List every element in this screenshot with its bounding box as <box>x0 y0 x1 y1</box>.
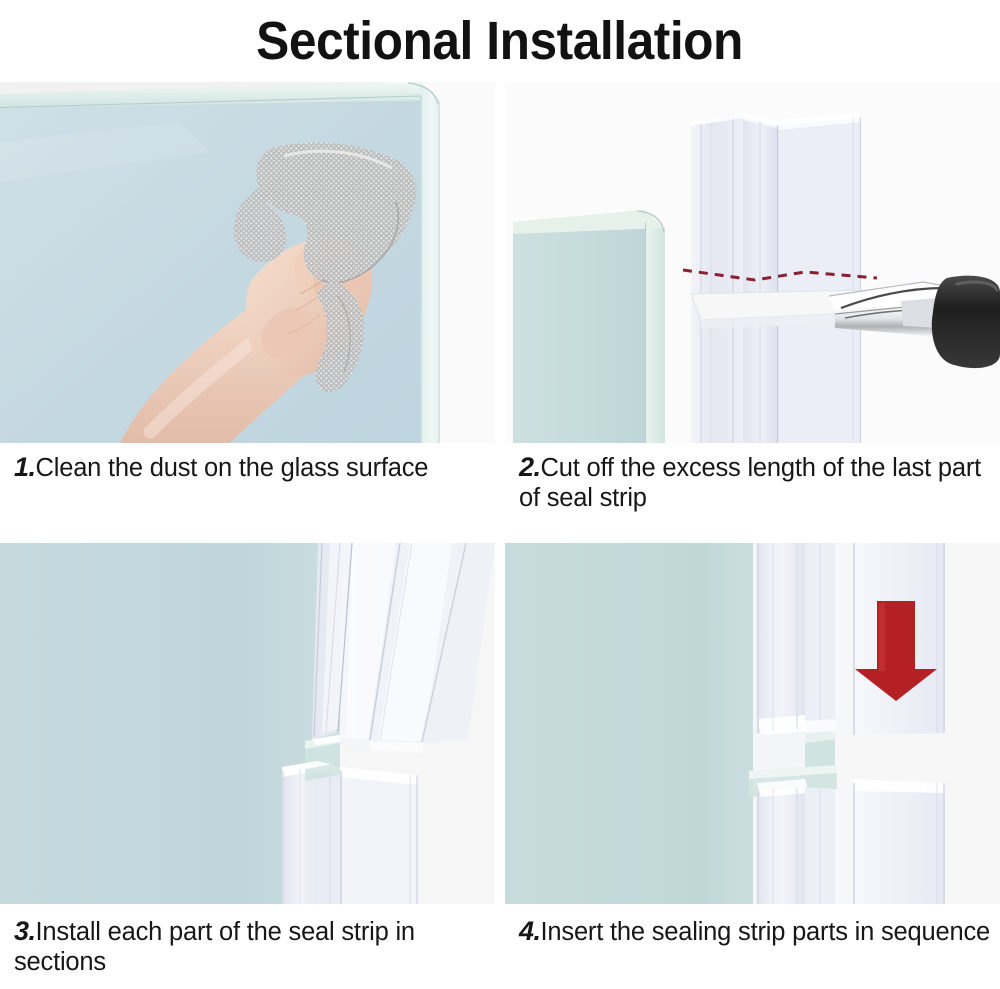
figure-seal-strip-insert-sequence <box>505 543 1000 904</box>
page-title: Sectional Installation <box>257 12 744 70</box>
figure-seal-strip-install-in-sections <box>0 543 495 904</box>
step-text-3: Install each part of the seal strip in s… <box>14 918 415 976</box>
step-card-2: 2.Cut off the excess length of the last … <box>505 82 1000 513</box>
step-caption-3: 3.Install each part of the seal strip in… <box>0 904 495 977</box>
step-caption-4: 4.Insert the sealing strip parts in sequ… <box>505 904 1000 947</box>
step-caption-2: 2.Cut off the excess length of the last … <box>505 443 1000 513</box>
step-text-2: Cut off the excess length of the last pa… <box>519 454 981 512</box>
step-number-4: 4. <box>519 916 541 946</box>
step-card-3: 3.Install each part of the seal strip in… <box>0 543 495 977</box>
figure-seal-strip-cut-with-scissors <box>505 82 1000 443</box>
step-card-1: 1.Clean the dust on the glass surface <box>0 82 495 483</box>
step-caption-1: 1.Clean the dust on the glass surface <box>0 443 495 483</box>
step-number-1: 1. <box>14 452 36 482</box>
step-text-1: Clean the dust on the glass surface <box>36 454 429 482</box>
title-bar: Sectional Installation <box>0 0 1000 82</box>
step-number-2: 2. <box>519 452 541 482</box>
step-number-3: 3. <box>14 916 36 946</box>
figure-glass-cleaning-hand-cloth <box>0 82 495 443</box>
steps-grid: 1.Clean the dust on the glass surface <box>0 82 1000 989</box>
step-card-4: 4.Insert the sealing strip parts in sequ… <box>505 543 1000 947</box>
infographic-page: Sectional Installation <box>0 0 1000 989</box>
step-text-4: Insert the sealing strip parts in sequen… <box>541 918 990 946</box>
